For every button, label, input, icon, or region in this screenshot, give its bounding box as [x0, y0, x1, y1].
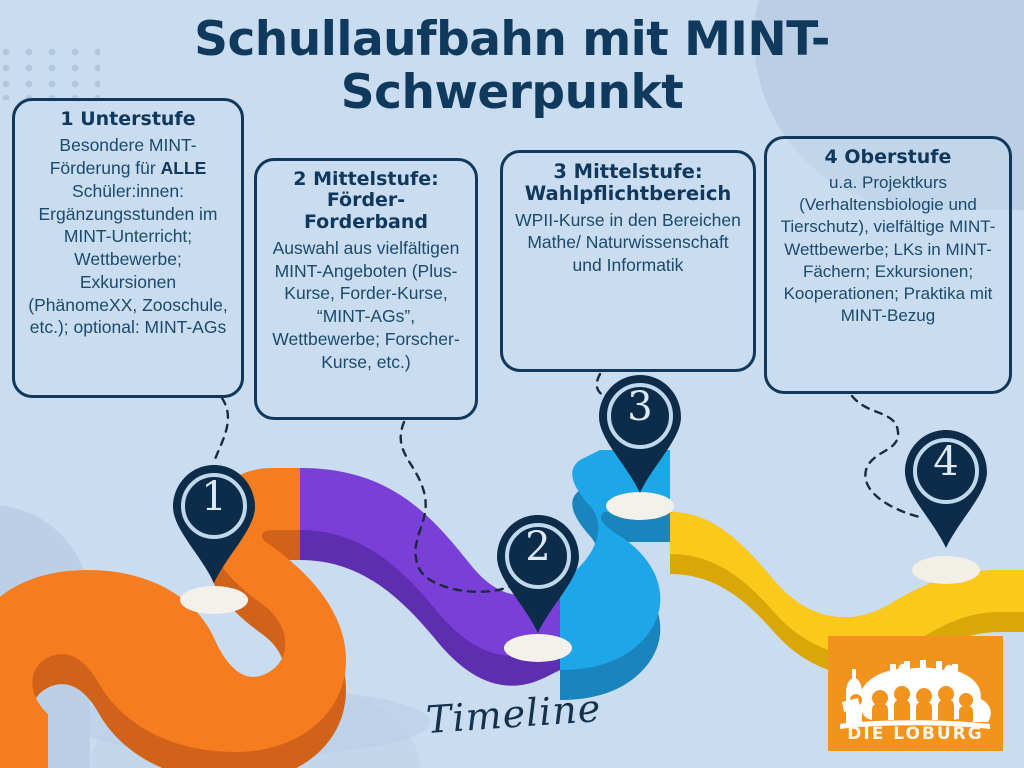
- infographic-canvas: Schullaufbahn mit MINT- Schwerpunkt: [0, 0, 1024, 768]
- stage-card-1-body: Besondere MINT-Förderung für ALLE Schüle…: [25, 134, 231, 339]
- stage-card-1[interactable]: 1 Unterstufe Besondere MINT-Förderung fü…: [12, 98, 244, 398]
- timeline-caption: Timeline: [425, 686, 603, 742]
- dot-grid-decoration: [2, 48, 100, 100]
- map-pin-4[interactable]: 4: [903, 428, 989, 550]
- stage-card-2[interactable]: 2 Mittelstufe: Förder-Forderband Auswahl…: [254, 158, 478, 420]
- stage-card-3[interactable]: 3 Mittelstufe: Wahlpflichtbereich WPII-K…: [500, 150, 756, 372]
- connector-card1: [214, 398, 228, 462]
- map-pin-2[interactable]: 2: [495, 513, 581, 635]
- stage-card-1-heading: 1 Unterstufe: [25, 109, 231, 130]
- decoration-bottom-left-blob: [90, 678, 420, 768]
- map-pin-1-label: 1: [171, 477, 257, 517]
- map-pin-3-label: 3: [597, 387, 683, 427]
- logo-die-loburg[interactable]: DIE LOBURG: [828, 636, 1003, 751]
- decoration-left-blob: [0, 505, 90, 768]
- stage-card-2-body: Auswahl aus vielfältigen MINT-Angeboten …: [267, 237, 465, 374]
- map-pin-4-label: 4: [903, 442, 989, 482]
- stage-card-3-heading: 3 Mittelstufe: Wahlpflichtbereich: [513, 161, 743, 205]
- map-pin-1[interactable]: 1: [171, 463, 257, 585]
- page-title-line-1: Schullaufbahn mit MINT-: [112, 14, 912, 67]
- stage-card-2-heading: 2 Mittelstufe: Förder-Forderband: [267, 169, 465, 233]
- stage-card-3-body: WPII-Kurse in den Bereichen Mathe/ Natur…: [513, 209, 743, 277]
- logo-text: DIE LOBURG: [828, 724, 1003, 744]
- stage-card-4-body: u.a. Projektkurs (Verhaltensbiologie und…: [777, 172, 999, 327]
- stage-card-4[interactable]: 4 Oberstufe u.a. Projektkurs (Verhaltens…: [764, 136, 1012, 394]
- stage-card-4-heading: 4 Oberstufe: [777, 147, 999, 168]
- map-pin-3[interactable]: 3: [597, 373, 683, 495]
- map-pin-2-label: 2: [495, 527, 581, 567]
